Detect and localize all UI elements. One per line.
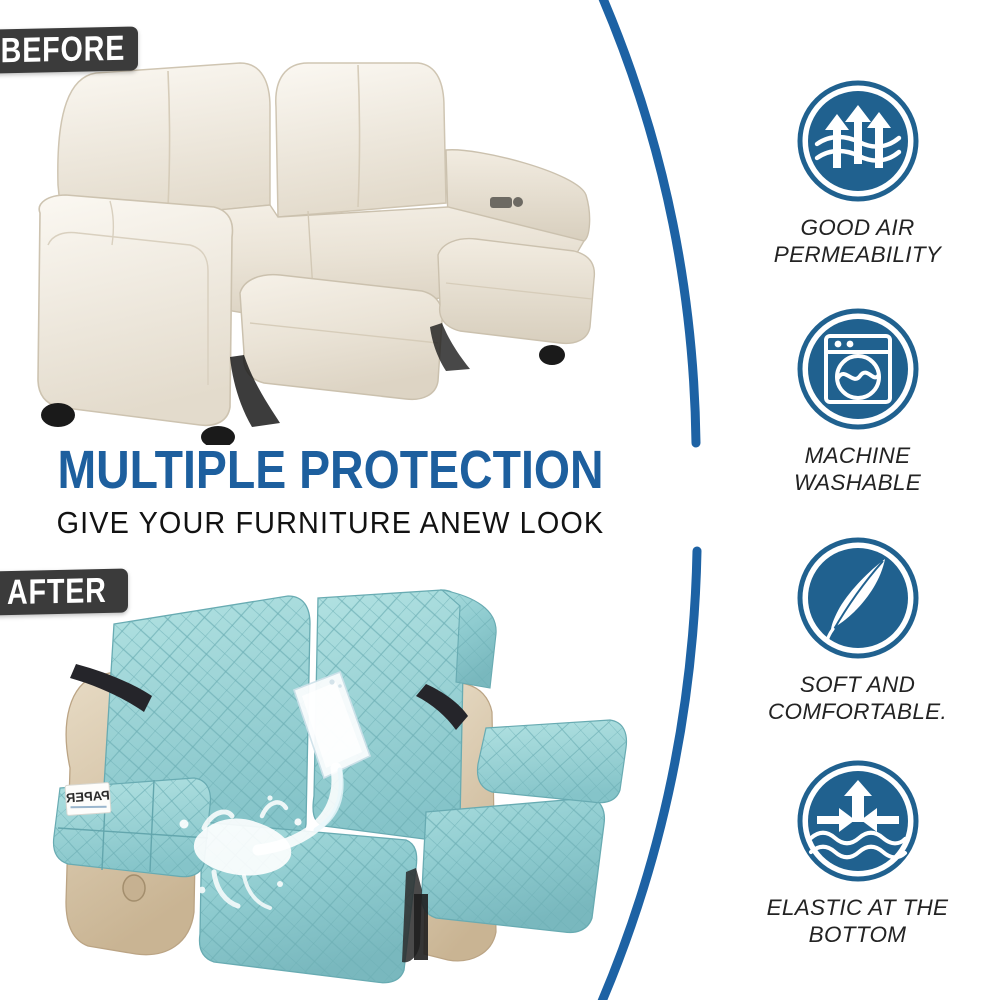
feature-machine-washable: MACHINE WASHABLE	[715, 308, 1000, 497]
comparison-panel: PAPER	[0, 0, 660, 1000]
before-sofa-image	[18, 55, 638, 445]
feature-label-machine-washable: MACHINE WASHABLE	[794, 442, 921, 497]
pocket-paper-label: PAPER	[65, 783, 111, 816]
feather-icon	[797, 537, 919, 659]
air-permeability-icon	[797, 80, 919, 202]
svg-text:PAPER: PAPER	[65, 787, 110, 805]
after-badge-label: AFTER	[7, 571, 107, 613]
after-sofa-image: PAPER	[18, 572, 658, 984]
after-badge: AFTER	[0, 569, 128, 616]
feature-label-soft-and-comfortable: SOFT AND COMFORTABLE.	[768, 671, 947, 726]
feature-list: GOOD AIR PERMEABILITY MACHINE WASHABLE	[715, 0, 1000, 1000]
before-badge: BEFORE	[0, 26, 138, 73]
washing-machine-icon	[797, 308, 919, 430]
feature-label-elastic-at-the-bottom: ELASTIC AT THE BOTTOM	[767, 894, 949, 949]
infographic-canvas: PAPER	[0, 0, 1000, 1000]
feature-good-air-permeability: GOOD AIR PERMEABILITY	[715, 80, 1000, 269]
before-badge-label: BEFORE	[1, 29, 126, 72]
feature-label-good-air-permeability: GOOD AIR PERMEABILITY	[774, 214, 941, 269]
feature-elastic-at-the-bottom: ELASTIC AT THE BOTTOM	[715, 760, 1000, 949]
headline-block: MULTIPLE PROTECTION GIVE YOUR FURNITURE …	[0, 443, 660, 540]
elastic-bottom-icon	[797, 760, 919, 882]
feature-soft-and-comfortable: SOFT AND COMFORTABLE.	[715, 537, 1000, 726]
headline-text: MULTIPLE PROTECTION	[57, 443, 603, 497]
subheadline-text: GIVE YOUR FURNITURE ANEW LOOK	[56, 507, 604, 540]
